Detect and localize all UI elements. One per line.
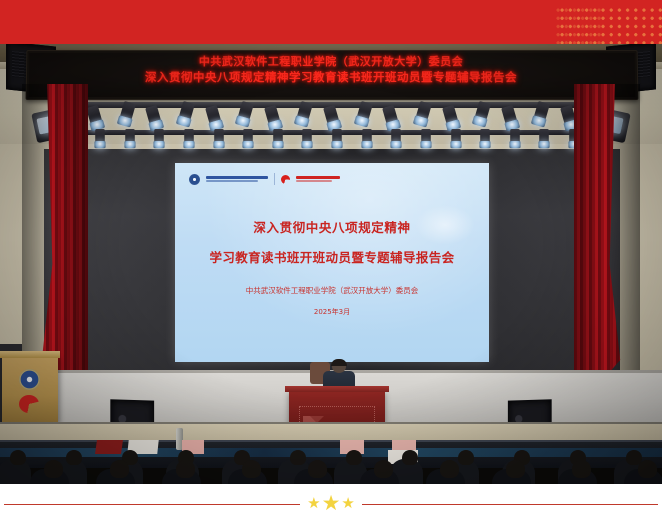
light-lens [420,141,431,148]
dot-grid-pattern-fade-icon [552,4,604,44]
slide-date: 2025年3月 [175,306,489,318]
light-lens [331,141,342,148]
stage-light [94,129,107,153]
stage-curtain-right [574,84,640,384]
college-name-logotype [206,176,268,183]
stage-light [212,129,225,153]
college-emblem-icon [189,174,200,185]
audience-head [110,460,129,478]
light-lens [243,141,254,148]
light-lens [480,141,491,148]
stage-curtain-left [22,84,88,384]
slide-organizer: 中共武汉软件工程职业学院（武汉开放大学）委员会 [175,285,489,297]
stage-light [271,129,284,153]
stage-light [153,129,166,153]
light-lens [302,141,313,148]
stage-light [479,129,492,153]
light-lens [183,141,194,148]
speaker-hair [331,359,347,366]
slide-title: 深入贯彻中央八项规定精神 学习教育读书班开班动员暨专题辅导报告会 [175,219,489,266]
audience-head [10,450,26,465]
slide-subtitle-block: 中共武汉软件工程职业学院（武汉开放大学）委员会 2025年3月 [175,285,489,318]
led-banner-line1: 中共武汉软件工程职业学院（武汉开放大学）委员会 [26,54,636,69]
audience-head [308,460,327,478]
audience-head [66,450,82,465]
audience-head [44,460,63,478]
stage-light [508,129,521,153]
audience-head [458,450,474,465]
light-lens [391,141,402,148]
article-image-card: 中共武汉软件工程职业学院（武汉开放大学）委员会 深入贯彻中央八项规定精神学习教育… [0,0,662,525]
audience-head [176,460,195,478]
footer-divider: ★★★ [0,484,662,525]
slide-title-line2: 学习教育读书班开班动员暨专题辅导报告会 [175,249,489,266]
audience-head [242,460,261,478]
stage-light [360,129,373,153]
open-university-mark-icon [281,175,290,184]
lectern-top [0,351,60,358]
star-icon-left: ★ [307,496,320,511]
auditorium-photo: 中共武汉软件工程职业学院（武汉开放大学）委员会 深入贯彻中央八项规定精神学习教育… [0,44,662,484]
stage-light [331,129,344,153]
audience-head [638,460,657,478]
table-top-edge [285,386,389,392]
light-lens [361,141,372,148]
stage-light [242,129,255,153]
stage-light [449,129,462,153]
stage-light [182,129,195,153]
audience-head [440,460,459,478]
school-emblem-icon [19,369,40,390]
open-university-logotype [296,176,340,183]
led-banner-line2: 深入贯彻中央八项规定精神学习教育读书班开班动员暨专题辅导报告会 [26,69,636,85]
lectern-red-logo-icon [19,395,39,413]
led-banner: 中共武汉软件工程职业学院（武汉开放大学）委员会 深入贯彻中央八项规定精神学习教育… [26,50,637,98]
audience-head [506,460,525,478]
audience-rows [0,448,662,484]
projection-slide: 深入贯彻中央八项规定精神 学习教育读书班开班动员暨专题辅导报告会 中共武汉软件工… [175,163,489,362]
light-lens [539,141,550,148]
curtain-shading [574,84,640,384]
audience-head [572,460,591,478]
stage-light [301,129,314,153]
audience-head [290,450,306,465]
star-icon-right: ★ [341,496,354,511]
logo-divider [274,173,275,185]
slide-logo-row [189,173,340,185]
light-lens [94,141,105,148]
star-icon-center: ★ [322,493,341,514]
stage-light [123,129,136,153]
light-lens [154,141,165,148]
stage-light [419,129,432,153]
stage-light [538,129,551,153]
audience-head [374,460,393,478]
lectern [2,356,58,422]
top-red-band [0,0,662,44]
light-lens [213,141,224,148]
audience-head [346,450,362,465]
stage-light [390,129,403,153]
light-lens [124,141,135,148]
led-banner-text: 中共武汉软件工程职业学院（武汉开放大学）委员会 深入贯彻中央八项规定精神学习教育… [26,54,636,85]
curtain-shading [22,84,88,384]
stage-lights-row [82,96,580,152]
light-lens [272,141,283,148]
audience-head [402,450,418,465]
light-lens [509,141,520,148]
slide-title-line1: 深入贯彻中央八项规定精神 [175,219,489,236]
light-lens [450,141,461,148]
star-ornament: ★★★ [0,493,662,514]
